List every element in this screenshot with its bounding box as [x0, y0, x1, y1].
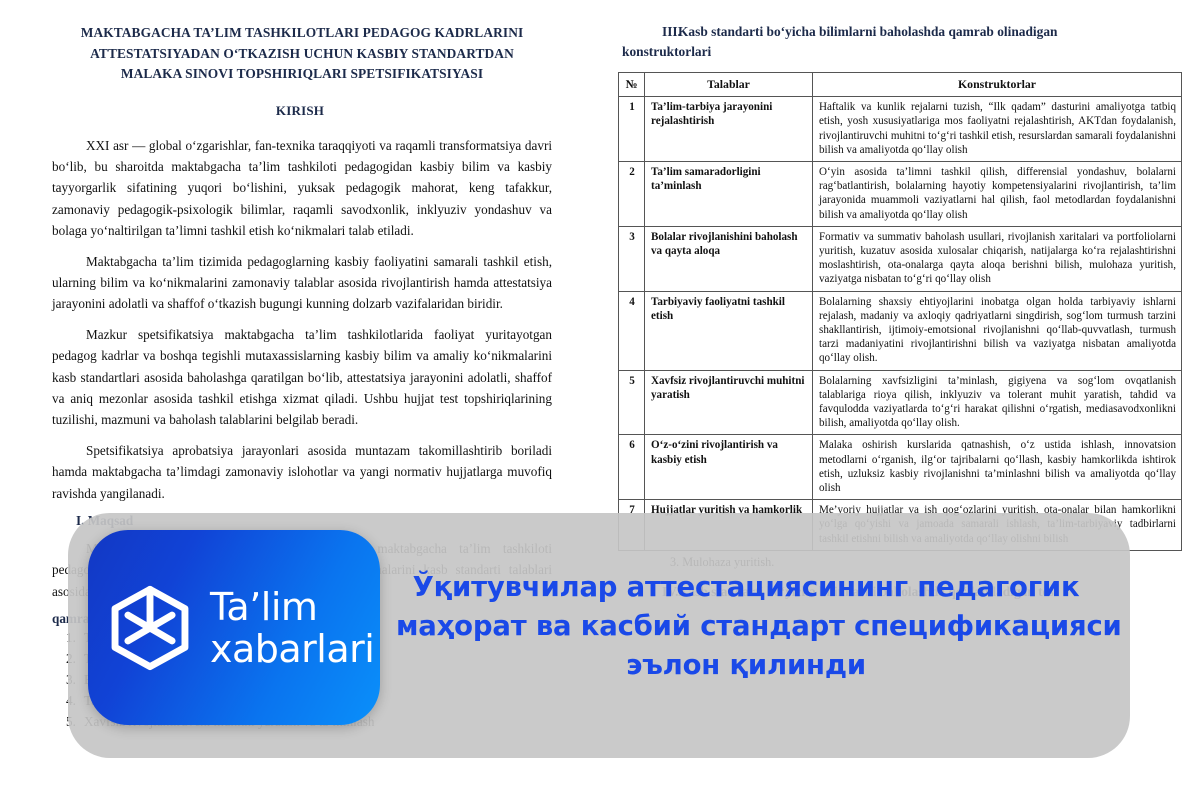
cube-logo-icon	[104, 582, 196, 674]
cell-konstruktor: O‘yin asosida ta’limni tashkil qilish, d…	[813, 162, 1182, 227]
table-header-row: № Talablar Konstruktorlar	[619, 73, 1182, 97]
cell-konstruktor: Haftalik va kunlik rejalarni tuzish, “Il…	[813, 97, 1182, 162]
paragraph-1: XXI asr — global o‘zgarishlar, fan-texni…	[52, 135, 552, 242]
table-row: 4 Tarbiyaviy faoliyatni tashkil etish Bo…	[619, 291, 1182, 370]
brand-logo-text: Ta’lim xabarlari	[210, 586, 374, 670]
cell-talab: Xavfsiz rivojlantiruvchi muhitni yaratis…	[645, 370, 813, 435]
cell-talab: Ta’lim-tarbiya jarayonini rejalashtirish	[645, 97, 813, 162]
cell-number: 3	[619, 226, 645, 291]
table-row: 6 O‘z-o‘zini rivojlantirish va kasbiy et…	[619, 435, 1182, 500]
cell-konstruktor: Formativ va summativ baholash usullari, …	[813, 226, 1182, 291]
paragraph-4: Spetsifikatsiya aprobatsiya jarayonlari …	[52, 440, 552, 504]
table-row: 1 Ta’lim-tarbiya jarayonini rejalashtiri…	[619, 97, 1182, 162]
cell-talab: Tarbiyaviy faoliyatni tashkil etish	[645, 291, 813, 370]
document-title-line-1: MAKTABGACHA TA’LIM TASHKILOTLARI PEDAGOG…	[52, 23, 552, 44]
column-header-number: №	[619, 73, 645, 97]
cell-number: 2	[619, 162, 645, 227]
section-heading-continuation: konstruktorlari	[622, 42, 1170, 62]
page-top-margin	[600, 0, 1200, 14]
brand-logo-card[interactable]: Ta’lim xabarlari	[88, 530, 380, 725]
cell-number: 6	[619, 435, 645, 500]
cell-konstruktor: Malaka oshirish kurslarida qatnashish, o…	[813, 435, 1182, 500]
cell-konstruktor: Bolalarning shaxsiy ehtiyojlarini inobat…	[813, 291, 1182, 370]
document-title-line-2: ATTESTATSIYADAN O‘TKAZISH UCHUN KASBIY S…	[52, 44, 552, 65]
paragraph-2: Maktabgacha ta’lim tizimida pedagoglarni…	[52, 251, 552, 315]
column-header-konstruktorlar: Konstruktorlar	[813, 73, 1182, 97]
cell-talab: O‘z-o‘zini rivojlantirish va kasbiy etis…	[645, 435, 813, 500]
headline-line-2: маҳорат ва касбий стандарт спецификацияс…	[396, 607, 1096, 646]
column-header-talablar: Talablar	[645, 73, 813, 97]
section-heading-text: Kasb standarti bo‘yicha bilimlarni bahol…	[678, 24, 1058, 39]
document-title-line-3: MALAKA SINOVI TOPSHIRIQLARI SPETSIFIKATS…	[52, 64, 552, 85]
brand-logo-line-2: xabarlari	[210, 628, 374, 670]
document-title: MAKTABGACHA TA’LIM TASHKILOTLARI PEDAGOG…	[52, 0, 552, 85]
headline-line-1: Ўқитувчилар аттестациясининг педагогик	[396, 568, 1096, 607]
overlay-headline: Ўқитувчилар аттестациясининг педагогик м…	[396, 568, 1096, 685]
section-heading-III: III.Kasb standarti bo‘yicha bilimlarni b…	[622, 22, 1170, 62]
headline-line-3: эълон қилинди	[396, 646, 1096, 685]
table-row: 5 Xavfsiz rivojlantiruvchi muhitni yarat…	[619, 370, 1182, 435]
table-row: 2 Ta’lim samaradorligini ta’minlash O‘yi…	[619, 162, 1182, 227]
paragraph-3: Mazkur spetsifikatsiya maktabgacha ta’li…	[52, 324, 552, 431]
table-row: 3 Bolalar rivojlanishini baholash va qay…	[619, 226, 1182, 291]
section-numeral: III.	[622, 22, 678, 42]
cell-talab: Ta’lim samaradorligini ta’minlash	[645, 162, 813, 227]
document-subtitle: KIRISH	[0, 103, 600, 119]
cell-number: 5	[619, 370, 645, 435]
cell-number: 4	[619, 291, 645, 370]
konstruktorlar-table: № Talablar Konstruktorlar 1 Ta’lim-tarbi…	[618, 72, 1182, 551]
cell-konstruktor: Bolalarning xavfsizligini ta’minlash, gi…	[813, 370, 1182, 435]
cell-number: 1	[619, 97, 645, 162]
brand-logo-line-1: Ta’lim	[210, 586, 374, 628]
cell-talab: Bolalar rivojlanishini baholash va qayta…	[645, 226, 813, 291]
screenshot-stage: MAKTABGACHA TA’LIM TASHKILOTLARI PEDAGOG…	[0, 0, 1200, 800]
